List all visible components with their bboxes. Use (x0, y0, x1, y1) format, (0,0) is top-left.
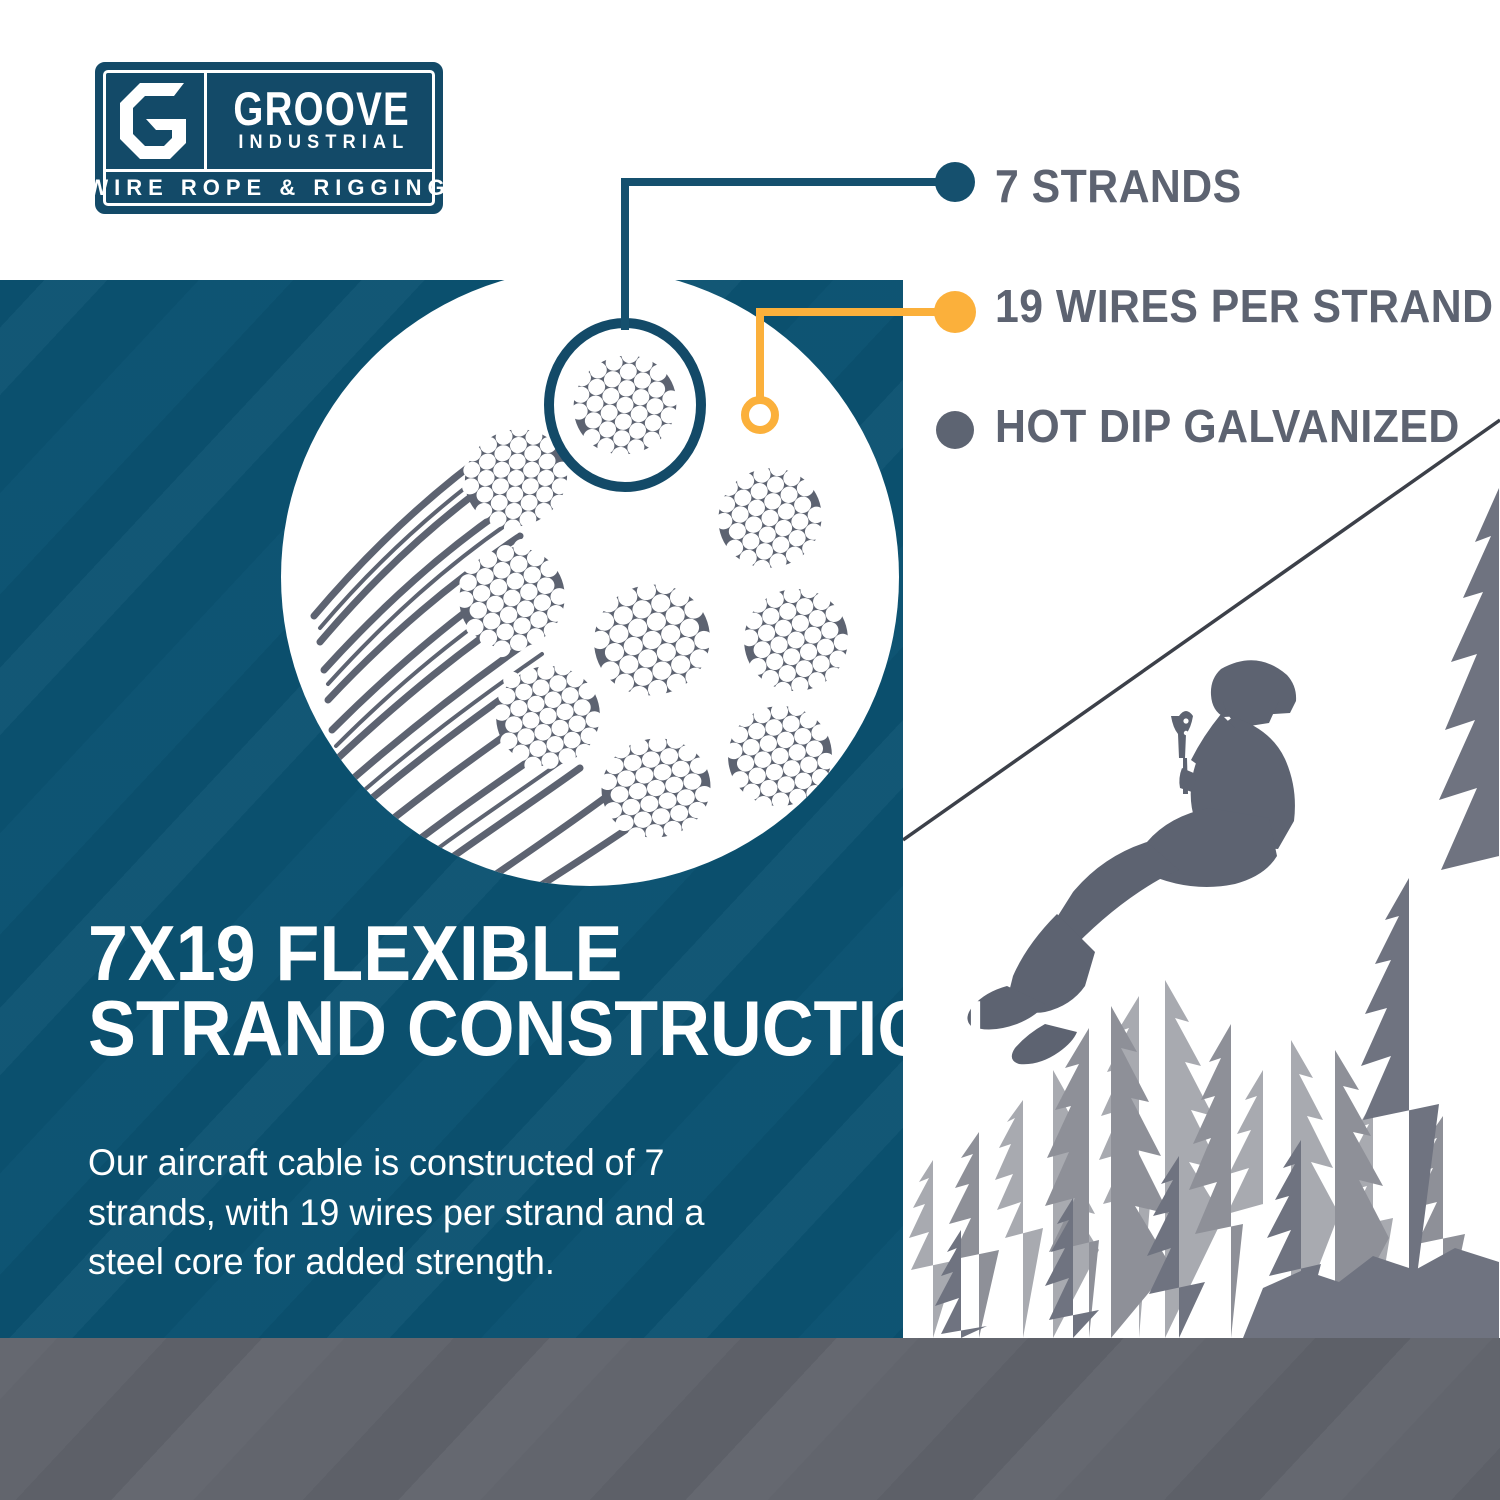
callout-label-wires: 19 WIRES PER STRAND (995, 283, 1494, 329)
callout-anchor-ring-orange (745, 400, 775, 430)
callout-dot-grey (936, 411, 974, 449)
infographic-canvas: GROOVE INDUSTRIAL WIRE ROPE & RIGGING (0, 0, 1500, 1500)
callout-dot-blue (935, 162, 975, 202)
callout-connectors (0, 0, 1500, 700)
headline-line-2: STRAND CONSTRUCTION (88, 991, 985, 1066)
page-title: 7X19 FLEXIBLE STRAND CONSTRUCTION (88, 916, 985, 1066)
footer-band (0, 1338, 1500, 1500)
callout-label-strands: 7 STRANDS (995, 163, 1242, 209)
callout-label-galvanized: HOT DIP GALVANIZED (995, 403, 1460, 449)
connector-line-blue (625, 182, 950, 330)
callout-dot-orange (934, 291, 976, 333)
body-paragraph: Our aircraft cable is constructed of 7 s… (88, 1138, 767, 1287)
connector-line-orange (760, 312, 950, 415)
